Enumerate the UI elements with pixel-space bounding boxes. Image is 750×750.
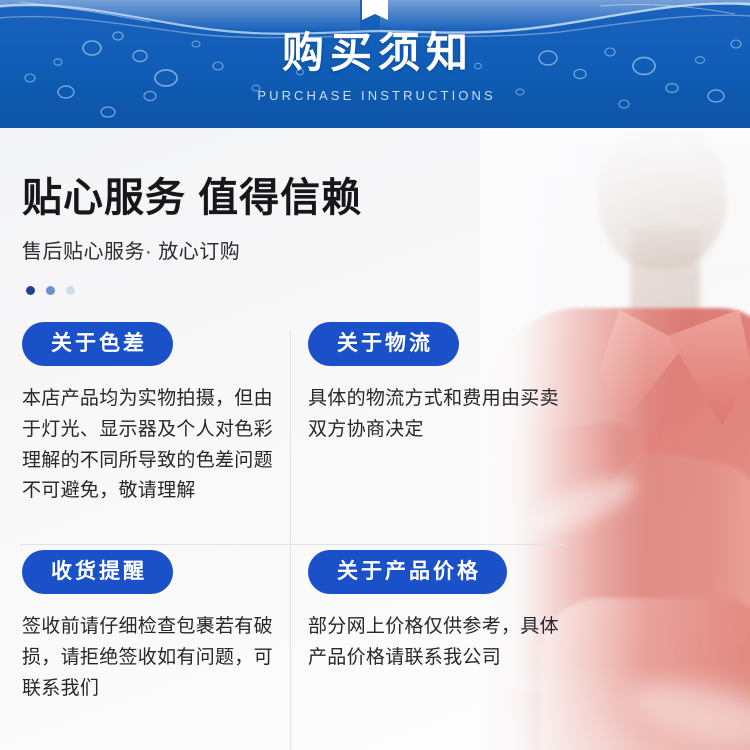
photo-head-shape (598, 128, 726, 270)
photo-highlight-lower (626, 673, 750, 750)
photo-neck-shape (630, 228, 700, 338)
card-body-logistics: 具体的物流方式和费用由买卖双方协商决定 (308, 384, 566, 446)
card-logistics: 关于物流 具体的物流方式和费用由买卖双方协商决定 (308, 322, 573, 446)
card-product-price: 关于产品价格 部分网上价格仅供参考，具体产品价格请联系我公司 (308, 550, 573, 674)
card-title-logistics[interactable]: 关于物流 (308, 322, 459, 366)
bookmark-ribbon-icon (362, 0, 388, 20)
banner-title: 购买须知 (0, 30, 750, 76)
card-title-delivery-reminder[interactable]: 收货提醒 (22, 550, 173, 594)
carousel-dot-3[interactable] (66, 286, 75, 295)
carousel-dots[interactable] (22, 286, 362, 295)
header-banner: 购买须知 PURCHASE INSTRUCTIONS (0, 0, 750, 128)
purchase-instructions-page: 购买须知 PURCHASE INSTRUCTIONS 贴心服务 值得信赖 售后贴… (0, 0, 750, 750)
carousel-dot-1[interactable] (26, 286, 35, 295)
headline-block: 贴心服务 值得信赖 售后贴心服务· 放心订购 (22, 176, 362, 295)
card-color-difference: 关于色差 本店产品均为实物拍摄，但由于灯光、显示器及个人对色彩理解的不同所导致的… (22, 322, 287, 507)
page-title: 贴心服务 值得信赖 (22, 176, 362, 221)
card-title-product-price[interactable]: 关于产品价格 (308, 550, 507, 594)
photo-collar-right (665, 309, 750, 432)
card-delivery-reminder: 收货提醒 签收前请仔细检查包裹若有破损，请拒绝签收如有问题，可联系我们 (22, 550, 287, 704)
photo-collar-left (585, 309, 689, 436)
instruction-cards-grid: 关于色差 本店产品均为实物拍摄，但由于灯光、显示器及个人对色彩理解的不同所导致的… (0, 322, 600, 722)
banner-subtitle: PURCHASE INSTRUCTIONS (0, 88, 750, 103)
card-body-color-difference: 本店产品均为实物拍摄，但由于灯光、显示器及个人对色彩理解的不同所导致的色差问题不… (22, 384, 280, 507)
carousel-dot-2[interactable] (46, 286, 55, 295)
vertical-divider (290, 330, 291, 750)
photo-arm-right (585, 445, 750, 662)
card-body-product-price: 部分网上价格仅供参考，具体产品价格请联系我公司 (308, 612, 566, 674)
horizontal-divider (20, 544, 565, 545)
card-title-color-difference[interactable]: 关于色差 (22, 322, 173, 366)
page-subtitle: 售后贴心服务· 放心订购 (22, 235, 362, 264)
card-body-delivery-reminder: 签收前请仔细检查包裹若有破损，请拒绝签收如有问题，可联系我们 (22, 612, 280, 704)
